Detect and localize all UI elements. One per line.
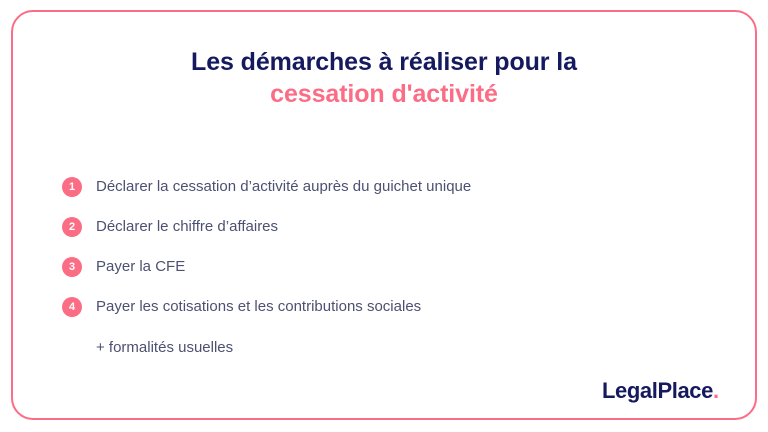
step-label: Payer la CFE (96, 257, 682, 277)
title-line-highlight: cessation d'activité (0, 78, 768, 110)
logo-wordmark: LegalPlace (602, 378, 713, 403)
steps-list: 1 Déclarer la cessation d’activité auprè… (62, 177, 682, 337)
list-item: 1 Déclarer la cessation d’activité auprè… (62, 177, 682, 217)
step-number-badge: 3 (62, 257, 82, 277)
step-number-badge: 2 (62, 217, 82, 237)
title-line-primary: Les démarches à réaliser pour la (0, 46, 768, 78)
list-item: 4 Payer les cotisations et les contribut… (62, 297, 682, 337)
step-number-badge: 4 (62, 297, 82, 317)
additional-formalities-note: + formalités usuelles (96, 338, 233, 358)
page-title: Les démarches à réaliser pour la cessati… (0, 46, 768, 110)
step-label: Payer les cotisations et les contributio… (96, 297, 682, 317)
step-number-badge: 1 (62, 177, 82, 197)
logo-dot: . (713, 378, 719, 403)
legalplace-logo: LegalPlace. (602, 379, 719, 403)
step-label: Déclarer le chiffre d’affaires (96, 217, 682, 237)
list-item: 2 Déclarer le chiffre d’affaires (62, 217, 682, 257)
infographic-card: Les démarches à réaliser pour la cessati… (0, 0, 768, 432)
list-item: 3 Payer la CFE (62, 257, 682, 297)
step-label: Déclarer la cessation d’activité auprès … (96, 177, 682, 197)
